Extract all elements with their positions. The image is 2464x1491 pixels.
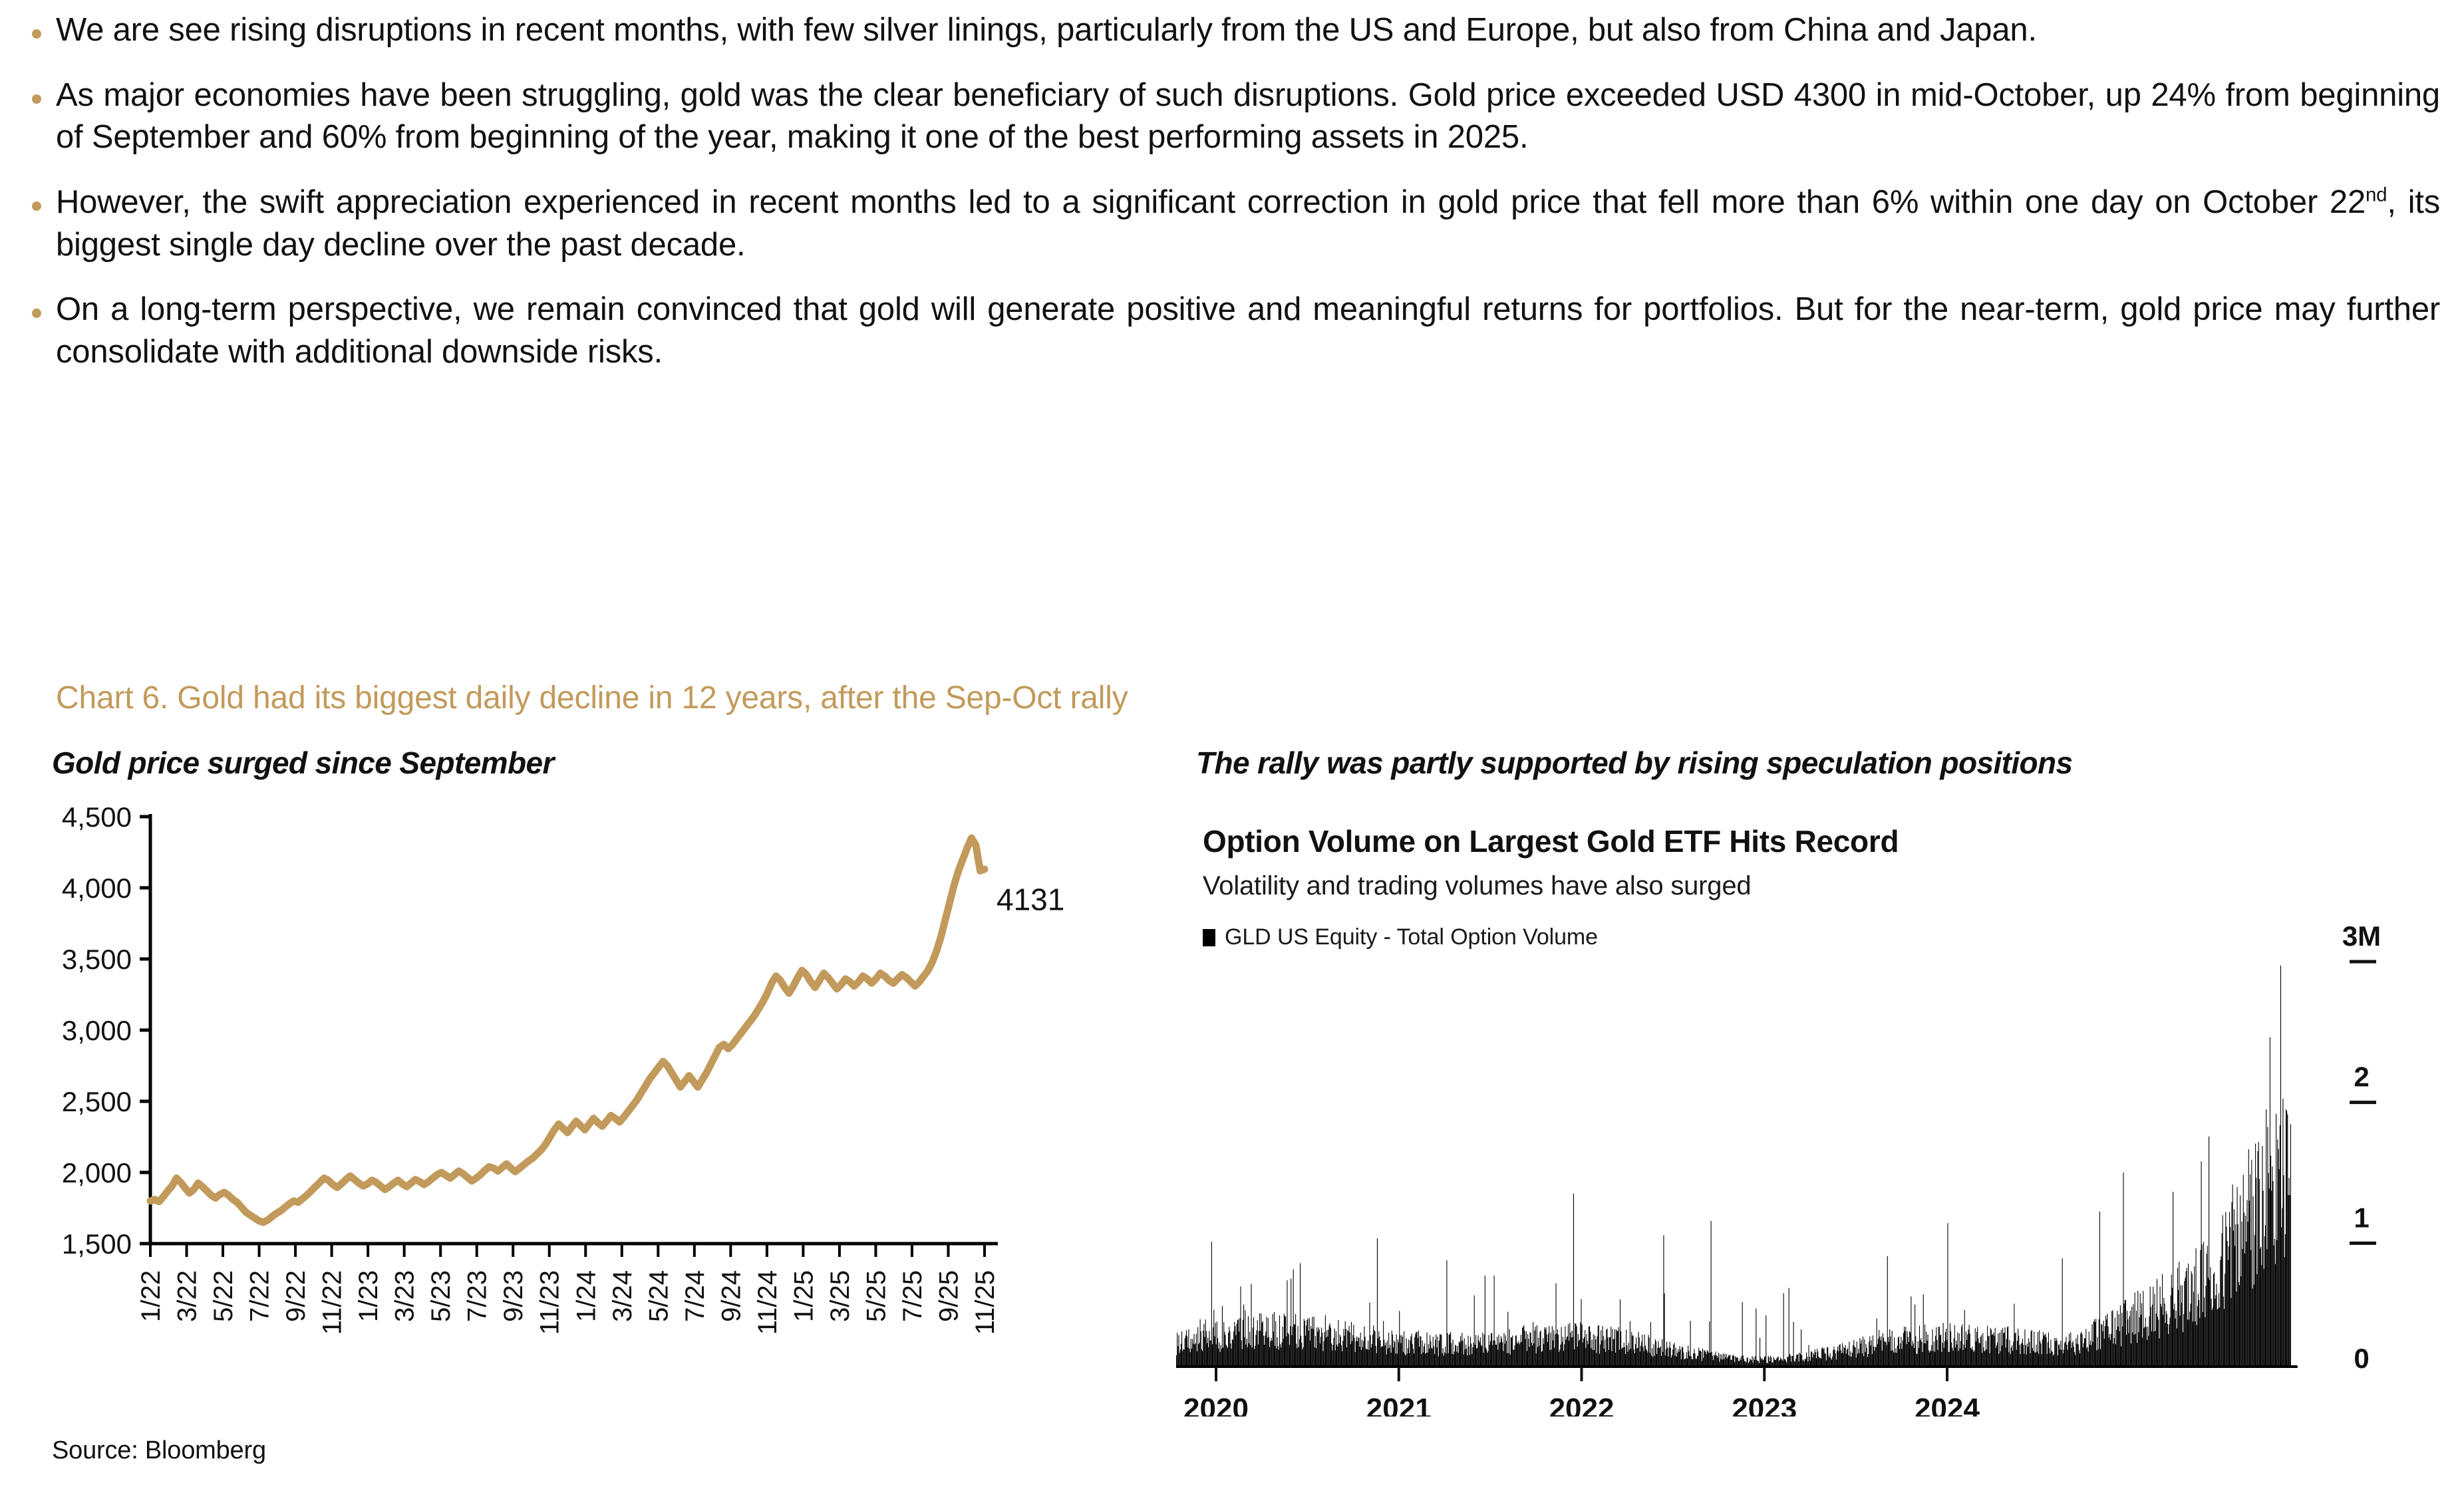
bar (2073, 1341, 2074, 1367)
bar (2271, 1191, 2272, 1367)
bar (1391, 1353, 1392, 1367)
bar (1295, 1314, 1296, 1367)
bar (2074, 1347, 2074, 1367)
bar (2071, 1348, 2072, 1367)
bar (1252, 1347, 1253, 1367)
bar (1287, 1280, 1287, 1367)
bar (1316, 1348, 1316, 1367)
bar (2135, 1293, 2135, 1367)
bar (2151, 1331, 2152, 1367)
bar (1928, 1335, 1928, 1367)
bar (1934, 1341, 1934, 1367)
bar (1759, 1363, 1760, 1367)
bar (1265, 1331, 1266, 1367)
bar (2191, 1272, 2192, 1367)
bar (2249, 1201, 2250, 1367)
bar (1998, 1333, 1998, 1367)
bloomberg-chart-subtitle: Volatility and trading volumes have also… (1203, 871, 1751, 901)
bar (2275, 1264, 2276, 1367)
bar (2149, 1316, 2149, 1367)
bar (1815, 1349, 1815, 1367)
bar (1536, 1353, 1537, 1367)
bar (2280, 966, 2281, 1367)
bar (1251, 1284, 1252, 1367)
bar (1310, 1341, 1310, 1367)
bar (1354, 1338, 1354, 1367)
bar (1728, 1357, 1728, 1367)
bar (1368, 1341, 1368, 1367)
bar (2254, 1285, 2254, 1367)
bar (1650, 1322, 1651, 1367)
bar (1992, 1334, 1993, 1367)
bar (1525, 1339, 1526, 1367)
bar (2122, 1327, 2123, 1367)
bar (1579, 1339, 1580, 1367)
bar (2213, 1274, 2214, 1367)
bar (1285, 1317, 1286, 1367)
bar (1305, 1336, 1306, 1367)
bar (1946, 1340, 1947, 1367)
bar (1857, 1353, 1858, 1367)
bar (1631, 1332, 1632, 1367)
bar (2078, 1335, 2078, 1367)
bar (2229, 1246, 2229, 1367)
bar (1263, 1335, 1264, 1367)
bar (1945, 1332, 1946, 1367)
bar (1651, 1356, 1652, 1367)
bar (2129, 1317, 2130, 1367)
bar (1742, 1302, 1743, 1367)
bar (1273, 1314, 1273, 1367)
bar (1988, 1336, 1989, 1367)
bar (1875, 1347, 1875, 1367)
bar (2109, 1334, 2110, 1367)
bar (1656, 1354, 1657, 1367)
bar (2112, 1310, 2113, 1367)
bar (1779, 1361, 1779, 1367)
bar (1322, 1333, 1322, 1367)
bar (1556, 1284, 1557, 1367)
bar (1799, 1353, 1800, 1367)
bar (1451, 1343, 1452, 1367)
bar (1207, 1337, 1208, 1367)
bar (1849, 1357, 1850, 1367)
bar (1933, 1351, 1934, 1367)
bar (2070, 1332, 2071, 1367)
bar (1340, 1337, 1341, 1367)
bar (1559, 1352, 1559, 1367)
bar (1595, 1339, 1596, 1367)
bar (1892, 1331, 1893, 1367)
bar (1233, 1340, 1233, 1367)
bar (1467, 1355, 1467, 1367)
bar (2244, 1254, 2245, 1367)
bar (1377, 1238, 1378, 1367)
bar (1221, 1345, 1221, 1367)
bar (1533, 1343, 1534, 1367)
bar (1955, 1347, 1956, 1367)
bar (1882, 1351, 1883, 1367)
bar (2099, 1319, 2099, 1367)
bar (1468, 1335, 1469, 1367)
bar (1788, 1357, 1789, 1367)
x-tick-label: 2022 (1549, 1393, 1615, 1417)
bar (1588, 1344, 1589, 1367)
bar (1646, 1349, 1646, 1367)
bar (1700, 1351, 1700, 1367)
bar (2239, 1285, 2240, 1367)
bar (1692, 1359, 1693, 1367)
bar (1288, 1333, 1289, 1367)
bar (1960, 1341, 1961, 1367)
bar (1680, 1349, 1681, 1367)
bar (2234, 1246, 2235, 1367)
bar (2114, 1338, 2115, 1367)
bar (1821, 1349, 1822, 1367)
bar (1723, 1353, 1724, 1367)
bar (1561, 1327, 1562, 1367)
bar (1972, 1350, 1973, 1367)
bar (1577, 1326, 1577, 1367)
bar (1495, 1341, 1495, 1367)
bar (2265, 1225, 2266, 1367)
bar (1885, 1342, 1885, 1367)
bar (1583, 1343, 1583, 1367)
bar (1904, 1327, 1905, 1367)
bar (1910, 1333, 1911, 1367)
bar (2146, 1327, 2147, 1367)
bar (1853, 1345, 1853, 1367)
bar (2269, 1188, 2270, 1367)
bar (1600, 1345, 1601, 1367)
bar (2238, 1224, 2238, 1367)
bar (1690, 1321, 1691, 1367)
bar (1200, 1319, 1201, 1367)
bar (1545, 1329, 1545, 1367)
bar (1487, 1353, 1487, 1367)
bar (2089, 1331, 2089, 1367)
bar (2147, 1327, 2148, 1367)
bar (1881, 1337, 1882, 1367)
bar (2039, 1330, 2040, 1367)
bar (2068, 1342, 2069, 1367)
bar (2205, 1286, 2206, 1367)
bar (1998, 1354, 1999, 1367)
bar (2274, 1246, 2274, 1367)
bar (1243, 1305, 1244, 1367)
bar (2143, 1291, 2143, 1367)
bar (2111, 1311, 2112, 1367)
bar (1794, 1361, 1795, 1367)
bar (2089, 1345, 2090, 1367)
bar (2148, 1336, 2149, 1367)
bar (2156, 1313, 2157, 1367)
bar (1537, 1325, 1537, 1367)
bar (1752, 1356, 1753, 1367)
bar (1242, 1349, 1243, 1367)
bar (1609, 1350, 1609, 1367)
bar (1803, 1359, 1803, 1367)
bar (1869, 1341, 1869, 1367)
bar (1533, 1322, 1533, 1367)
y-tick-label: 3,000 (62, 1015, 132, 1046)
bar (1193, 1334, 1194, 1367)
bar (2172, 1288, 2173, 1367)
bar (2011, 1348, 2012, 1367)
bar (1502, 1342, 1503, 1367)
bar (1766, 1315, 1766, 1367)
bar (1607, 1329, 1607, 1367)
bar (1760, 1357, 1761, 1367)
bar (1332, 1351, 1332, 1367)
bar (1639, 1337, 1640, 1367)
bar (1289, 1334, 1289, 1367)
bar (1997, 1343, 1998, 1367)
bar (1279, 1315, 1280, 1367)
bar (1606, 1329, 1607, 1367)
bar (1831, 1360, 1832, 1367)
bar (2036, 1345, 2037, 1367)
bar (1915, 1336, 1916, 1367)
bar (2223, 1297, 2224, 1367)
bar (1632, 1335, 1632, 1367)
bar (2100, 1349, 2101, 1367)
bar (1440, 1334, 1441, 1367)
bar (1300, 1263, 1301, 1367)
bar (2267, 1127, 2268, 1367)
bar (1680, 1346, 1680, 1367)
bar (2173, 1309, 2174, 1367)
bar (1971, 1349, 1972, 1367)
bar (2069, 1334, 2070, 1367)
bar (1501, 1336, 1501, 1367)
bar (2199, 1300, 2199, 1367)
bar (1508, 1353, 1509, 1367)
bar (2162, 1274, 2163, 1367)
bar (2229, 1212, 2230, 1367)
bar (1563, 1337, 1563, 1367)
bar (1412, 1344, 1413, 1367)
bar (2246, 1200, 2247, 1367)
bar (1454, 1351, 1455, 1367)
bar (1269, 1337, 1269, 1367)
x-tick-label: 2023 (1732, 1393, 1797, 1417)
bar (2227, 1241, 2228, 1367)
bar (1234, 1322, 1235, 1367)
bar (1284, 1314, 1285, 1367)
bar (2231, 1298, 2231, 1367)
bar (1542, 1351, 1543, 1367)
bar (1949, 1351, 1950, 1367)
bar (1202, 1351, 1203, 1367)
bar (2277, 1139, 2278, 1367)
bar (1770, 1355, 1771, 1367)
bar (1919, 1348, 1919, 1367)
bar (1327, 1337, 1328, 1367)
bar (1646, 1351, 1647, 1367)
bar (1839, 1345, 1839, 1367)
bar (1667, 1347, 1668, 1367)
bar (1476, 1349, 1477, 1367)
bar (1475, 1335, 1476, 1367)
bar (1605, 1352, 1606, 1367)
bar (1885, 1341, 1886, 1367)
bar (2107, 1313, 2107, 1367)
bar (2179, 1262, 2179, 1367)
bar (2193, 1321, 2193, 1367)
bar (2145, 1327, 2145, 1367)
bar (1687, 1359, 1688, 1367)
bar (1934, 1352, 1935, 1367)
bar (1305, 1321, 1305, 1367)
bar (2270, 1156, 2271, 1367)
bar (2125, 1300, 2125, 1367)
bar (1625, 1354, 1626, 1367)
bullet-dot-icon (32, 202, 41, 211)
bar (1511, 1337, 1511, 1367)
bar (1291, 1335, 1292, 1367)
bar (1197, 1351, 1197, 1367)
bar (1450, 1334, 1450, 1367)
bar (1961, 1327, 1962, 1367)
bar (1369, 1303, 1370, 1367)
bar (2055, 1341, 2056, 1367)
bar (1647, 1353, 1648, 1367)
bar (2003, 1333, 2004, 1367)
bar (1913, 1343, 1914, 1367)
bar (1718, 1353, 1719, 1367)
bar (1880, 1340, 1881, 1367)
x-tick-label: 1/24 (571, 1270, 601, 1322)
bar (1273, 1331, 1274, 1367)
bar (1275, 1321, 1276, 1367)
bar (1674, 1343, 1674, 1367)
bar (1821, 1359, 1821, 1367)
bar (1842, 1343, 1843, 1367)
bar (1838, 1351, 1839, 1367)
bar (1584, 1337, 1585, 1367)
bar (1547, 1335, 1547, 1367)
bar (2185, 1278, 2185, 1367)
bar (2060, 1349, 2060, 1367)
bar (1362, 1340, 1362, 1367)
bar (2259, 1179, 2260, 1367)
bar (1408, 1348, 1408, 1367)
bar (2045, 1334, 2046, 1367)
x-tick-label: 2021 (1366, 1393, 1432, 1417)
bar (1262, 1323, 1263, 1367)
bar (1603, 1336, 1604, 1367)
bar (1954, 1338, 1954, 1367)
x-tick-label: 11/24 (753, 1270, 782, 1335)
bar (1871, 1340, 1872, 1367)
bar (1693, 1353, 1694, 1367)
bar (1611, 1327, 1611, 1367)
bar (2219, 1307, 2220, 1367)
bar (1982, 1353, 1982, 1367)
bar (1303, 1347, 1304, 1367)
bar (2160, 1286, 2161, 1367)
bar (1530, 1332, 1531, 1367)
bar (1372, 1335, 1373, 1367)
bar (1550, 1333, 1551, 1367)
bar (2064, 1349, 2064, 1367)
bar (1417, 1332, 1418, 1367)
bar (1585, 1348, 1586, 1367)
bar (1426, 1353, 1426, 1367)
bar (2209, 1137, 2209, 1367)
bar (1223, 1347, 1223, 1367)
x-tick-label: 9/25 (934, 1270, 963, 1322)
bar (2050, 1339, 2051, 1367)
bar (1678, 1349, 1678, 1367)
bar (1748, 1357, 1748, 1367)
bar (1341, 1345, 1342, 1367)
bar (2199, 1318, 2200, 1367)
bar (1440, 1335, 1440, 1367)
bar (2204, 1297, 2205, 1367)
bar (2250, 1174, 2250, 1367)
bar (1863, 1337, 1863, 1367)
bar (2187, 1319, 2188, 1367)
bar (2208, 1278, 2209, 1367)
bar (2226, 1226, 2227, 1367)
bar (1925, 1325, 1925, 1367)
bar (1239, 1318, 1240, 1367)
bar (1499, 1343, 1500, 1367)
bar (1906, 1344, 1907, 1367)
bar (2085, 1329, 2086, 1367)
bar (1623, 1348, 1624, 1367)
bar (1819, 1357, 1820, 1367)
bar (1837, 1351, 1837, 1367)
bar (2009, 1340, 2010, 1367)
bar (1626, 1329, 1626, 1367)
bar (2241, 1222, 2242, 1367)
bar (1943, 1323, 1944, 1367)
bar (1642, 1335, 1642, 1367)
bar (1711, 1221, 1712, 1367)
bar (1730, 1360, 1731, 1367)
bar (1791, 1361, 1791, 1367)
x-tick-label: 7/23 (463, 1270, 492, 1322)
bar (1990, 1328, 1991, 1367)
x-tick-label: 11/25 (971, 1270, 1000, 1335)
bar (1604, 1349, 1605, 1367)
bar (1599, 1354, 1600, 1367)
bar (1758, 1361, 1758, 1367)
bar (2282, 1099, 2283, 1367)
bar (1854, 1347, 1855, 1367)
bar (1510, 1355, 1511, 1367)
bar (1978, 1343, 1979, 1367)
bar (2002, 1345, 2002, 1367)
bar (1626, 1345, 1627, 1367)
bar (1970, 1333, 1970, 1367)
bar (1818, 1357, 1819, 1367)
bar (1601, 1341, 1602, 1367)
bar (2235, 1224, 2236, 1367)
x-tick-label: 1/23 (354, 1270, 383, 1322)
bar (1895, 1348, 1896, 1367)
bar (1217, 1321, 1217, 1367)
bar (2016, 1350, 2017, 1367)
bar (1738, 1357, 1738, 1367)
bar (1893, 1353, 1894, 1367)
bar (2183, 1314, 2184, 1367)
bar (1865, 1352, 1865, 1367)
bar (1191, 1349, 1192, 1367)
